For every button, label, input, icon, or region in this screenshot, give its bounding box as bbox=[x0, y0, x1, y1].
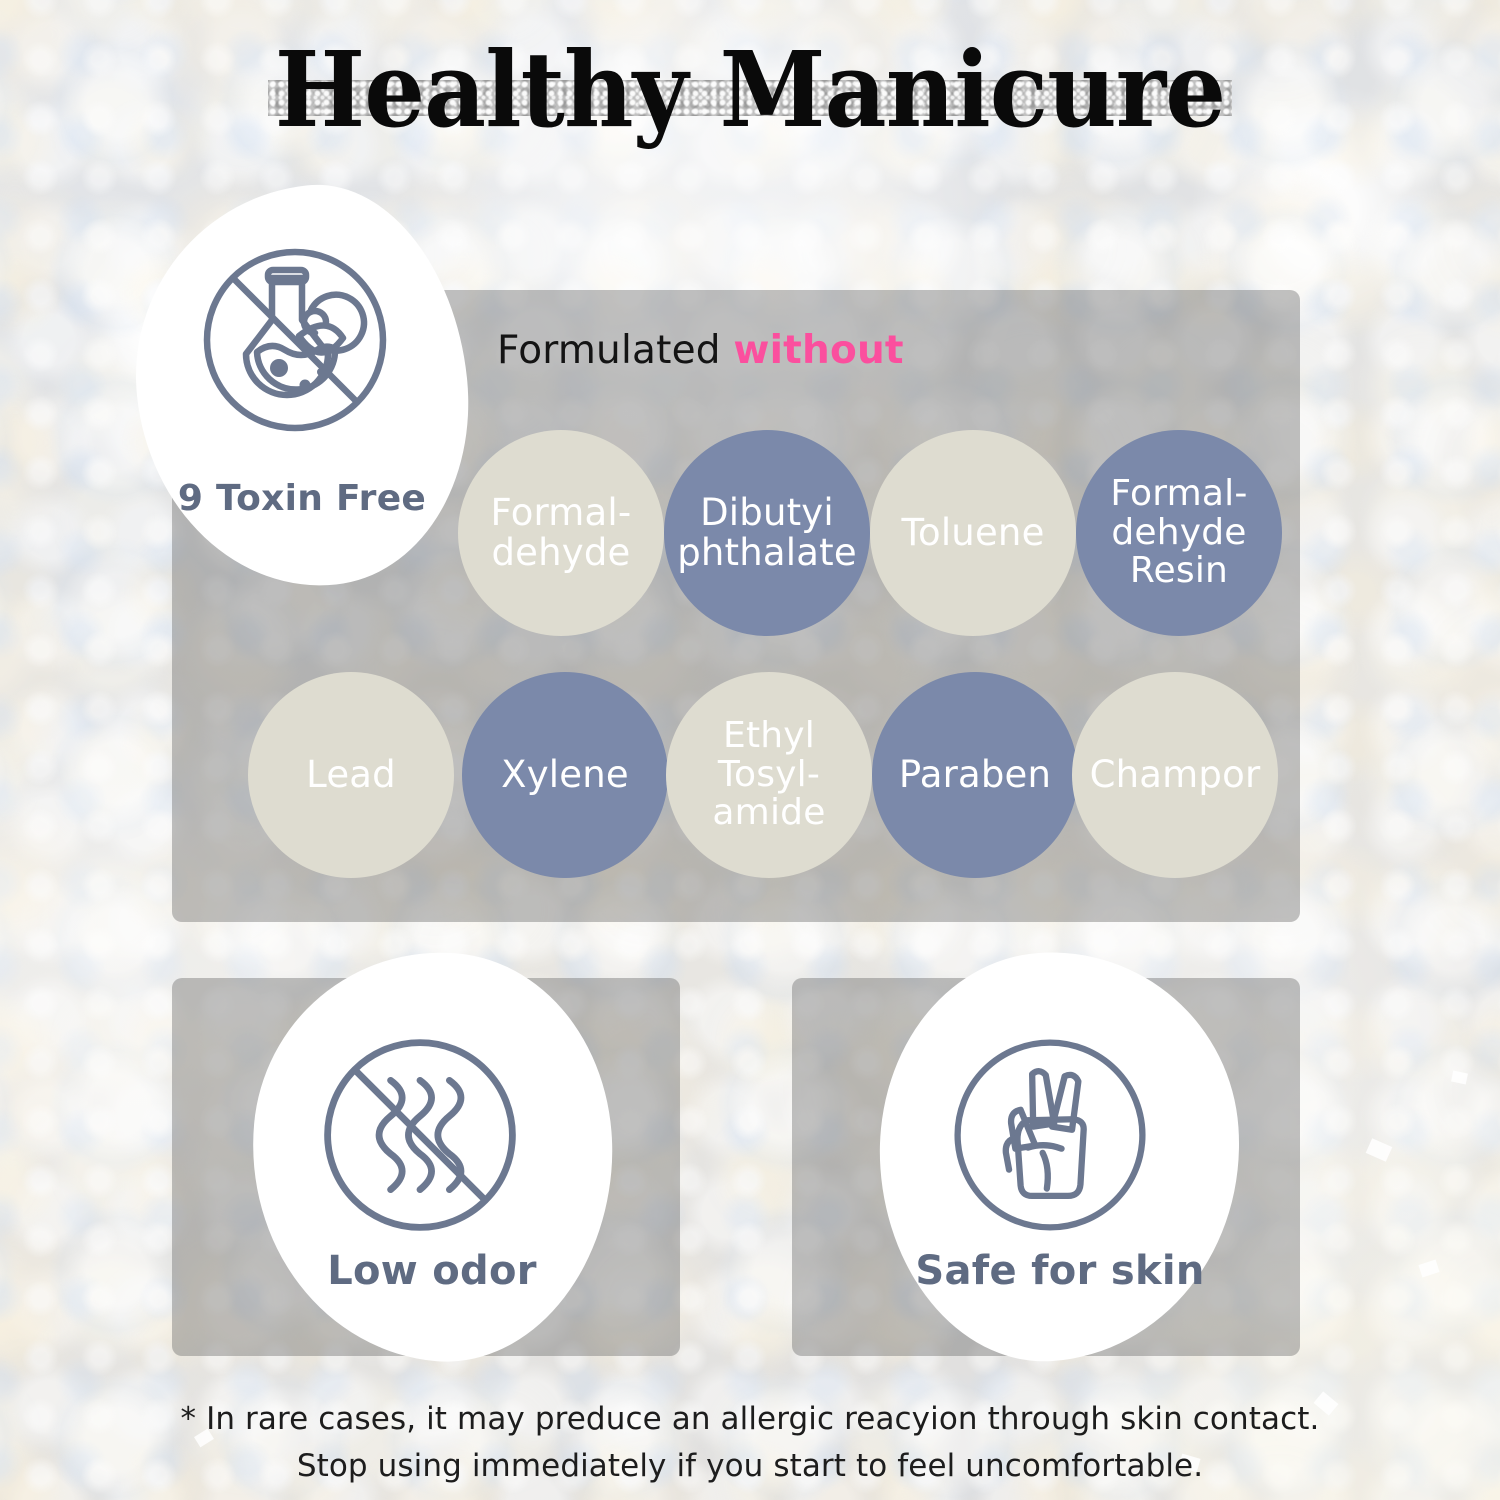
toxin-label: Toluene bbox=[901, 513, 1044, 553]
toxin-label: Paraben bbox=[899, 755, 1051, 795]
low-odor-label: Low odor bbox=[252, 1248, 612, 1294]
toxin-label: Formal- dehyde Resin bbox=[1110, 475, 1247, 592]
no-chemicals-flask-icon bbox=[195, 240, 395, 440]
peace-hand-icon bbox=[945, 1030, 1155, 1240]
formulated-highlight: without bbox=[733, 328, 903, 373]
page-title: Healthy Manicure bbox=[60, 38, 1440, 142]
confetti-fleck bbox=[1366, 1138, 1393, 1162]
toxin-label: Xylene bbox=[501, 755, 629, 795]
disclaimer: * In rare cases, it may preduce an aller… bbox=[0, 1396, 1500, 1489]
formulated-without-heading: Formulated without bbox=[497, 328, 904, 373]
toxin-circle: Formal- dehyde Resin bbox=[1076, 430, 1282, 636]
confetti-fleck bbox=[1418, 1260, 1439, 1278]
disclaimer-line-1: * In rare cases, it may preduce an aller… bbox=[0, 1396, 1500, 1443]
formulated-prefix: Formulated bbox=[497, 328, 733, 373]
toxin-circle: Dibutyi phthalate bbox=[664, 430, 870, 636]
toxin-free-label: 9 Toxin Free bbox=[137, 478, 467, 519]
toxin-circle: Champor bbox=[1072, 672, 1278, 878]
disclaimer-line-2: Stop using immediately if you start to f… bbox=[0, 1443, 1500, 1490]
toxin-circle: Formal- dehyde bbox=[458, 430, 664, 636]
toxin-label: Dibutyi phthalate bbox=[677, 493, 857, 573]
confetti-fleck bbox=[1451, 1071, 1468, 1085]
toxin-label: Champor bbox=[1090, 755, 1261, 795]
toxin-circle: Toluene bbox=[870, 430, 1076, 636]
toxin-label: Ethyl Tosyl- amide bbox=[712, 717, 825, 834]
toxin-circle: Paraben bbox=[872, 672, 1078, 878]
toxin-circle: Ethyl Tosyl- amide bbox=[666, 672, 872, 878]
poster-canvas: Healthy Manicure Formulated without Form… bbox=[0, 0, 1500, 1500]
toxin-circle: Lead bbox=[248, 672, 454, 878]
no-odor-waves-icon bbox=[315, 1030, 525, 1240]
safe-for-skin-label: Safe for skin bbox=[880, 1248, 1240, 1294]
toxin-label: Formal- dehyde bbox=[491, 493, 632, 573]
toxin-circle: Xylene bbox=[462, 672, 668, 878]
toxin-label: Lead bbox=[306, 755, 396, 795]
header: Healthy Manicure bbox=[0, 38, 1500, 142]
